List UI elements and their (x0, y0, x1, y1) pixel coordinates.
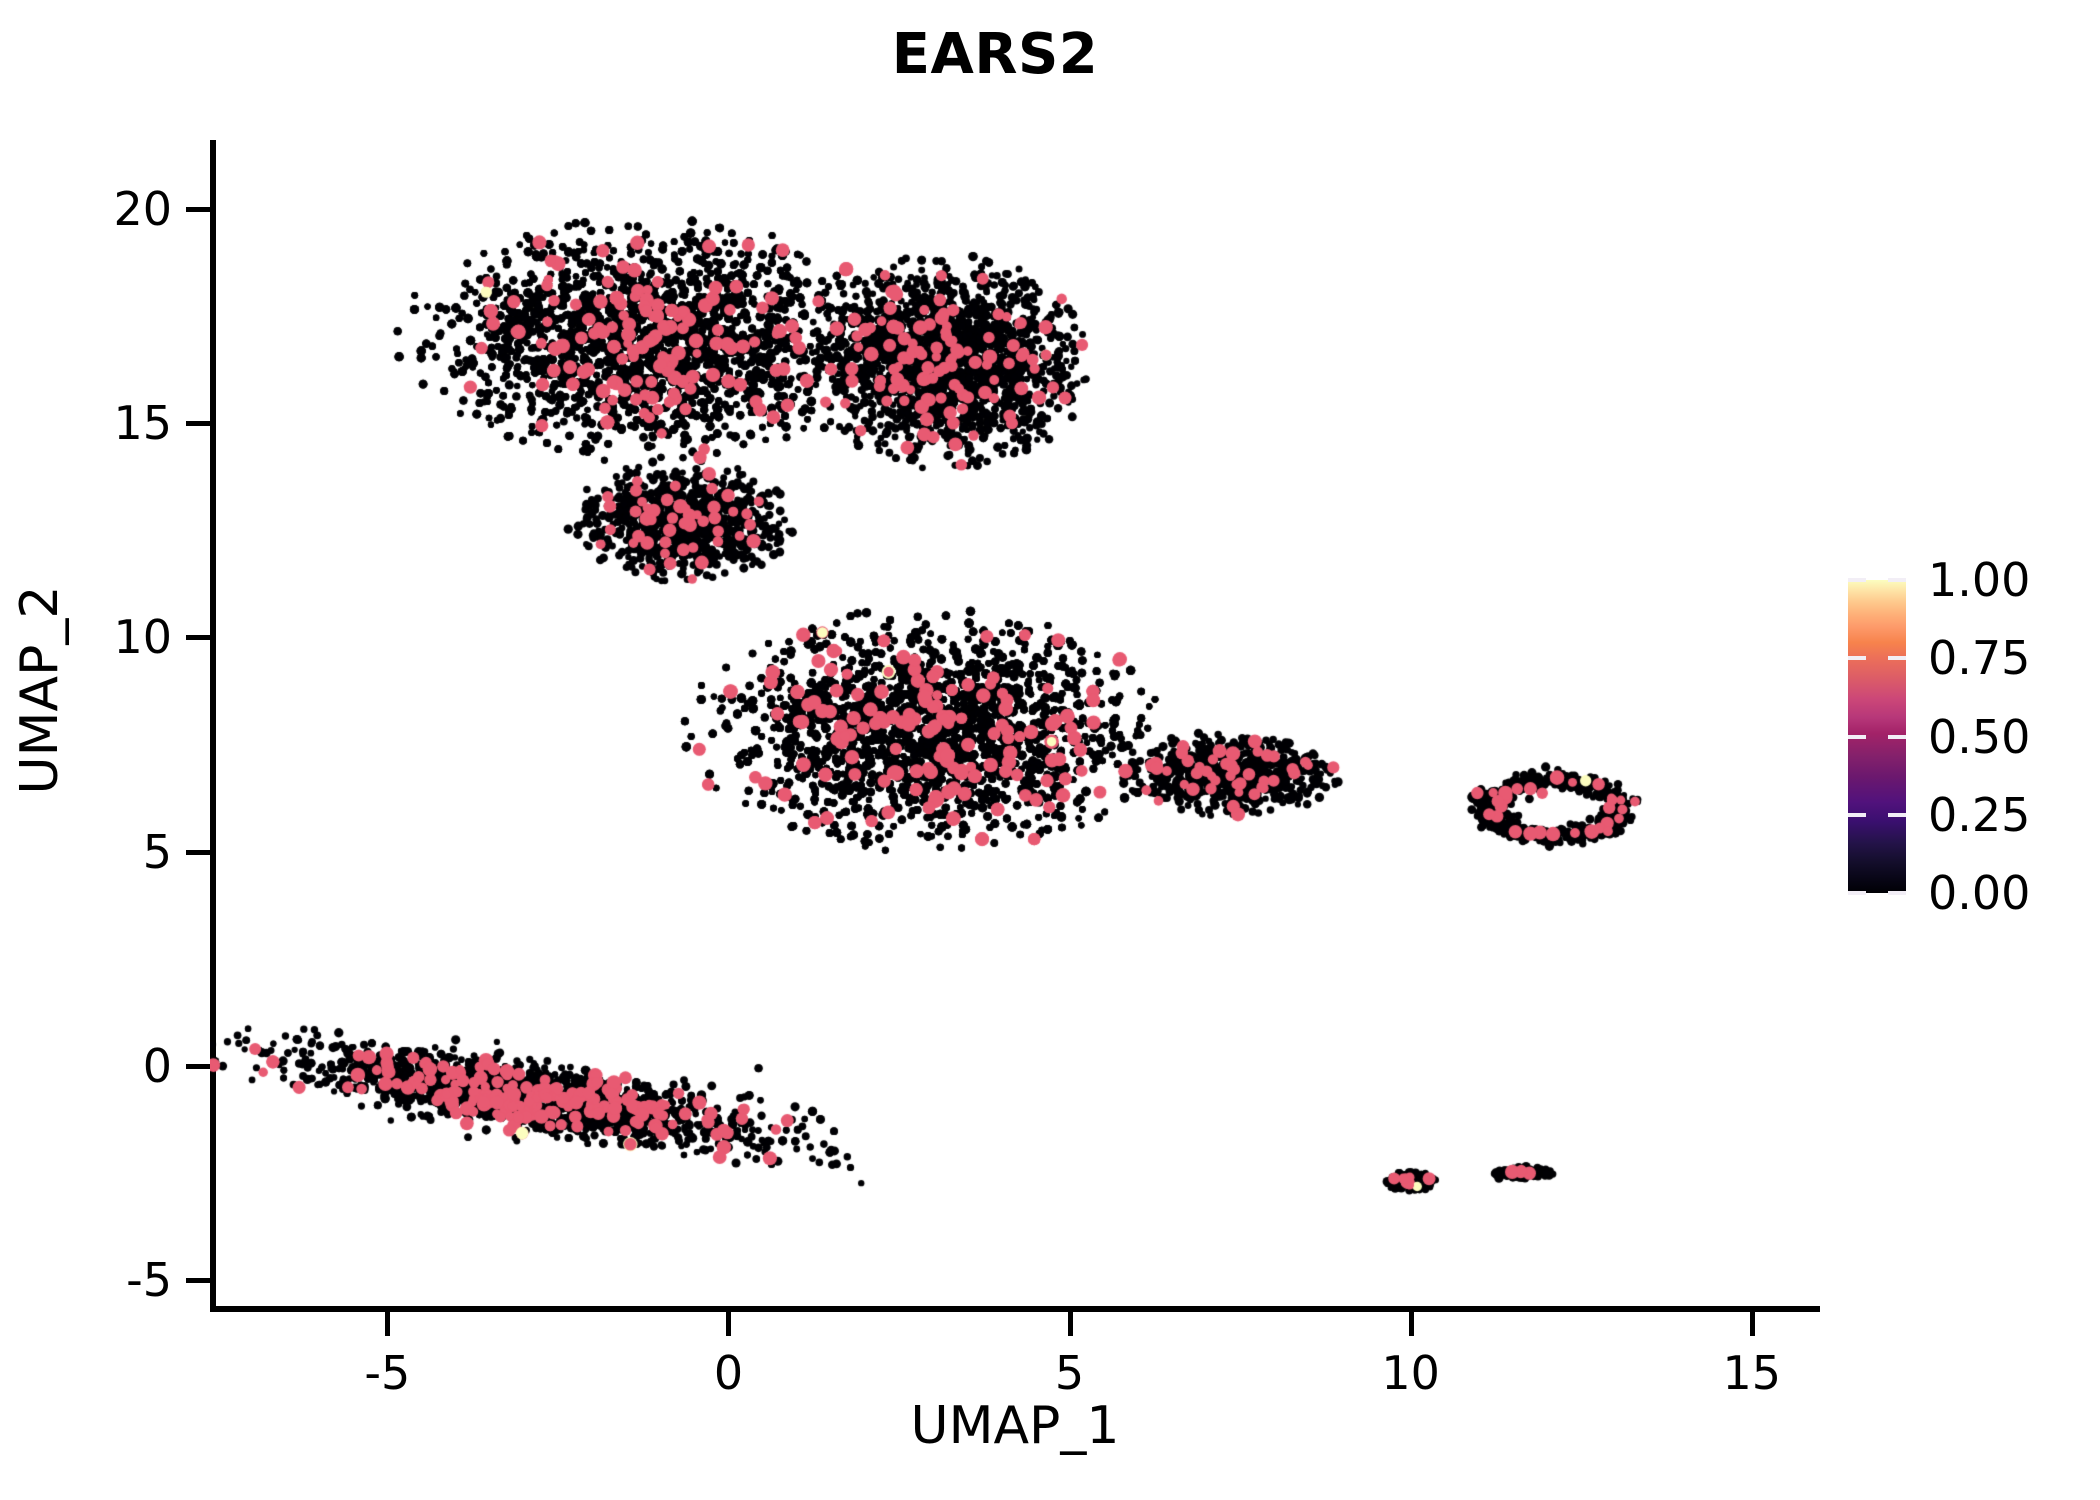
y-axis-label: UMAP_2 (10, 290, 70, 1090)
scatter-plot-area (210, 140, 1820, 1306)
x-axis-spine (210, 1306, 1820, 1312)
colorbar-tick-label: 0.75 (1928, 631, 2030, 685)
colorbar (1848, 580, 1906, 893)
y-tick-label: -5 (0, 1253, 172, 1307)
colorbar-tick-mark (1888, 891, 1906, 895)
umap-feature-plot: EARS2 -505101520 -5051015 UMAP_1 UMAP_2 … (0, 0, 2100, 1500)
x-tick-label: 15 (1722, 1346, 1781, 1400)
x-tick-label: -5 (364, 1346, 410, 1400)
scatter-points-canvas (210, 140, 1820, 1306)
colorbar-tick-label: 0.00 (1928, 866, 2030, 920)
x-axis-label: UMAP_1 (210, 1396, 1820, 1456)
colorbar-tick-mark (1848, 578, 1866, 582)
colorbar-tick-mark (1848, 891, 1866, 895)
x-tick-label: 0 (714, 1346, 743, 1400)
y-tick-mark (186, 850, 210, 855)
colorbar-tick-mark (1888, 813, 1906, 817)
x-tick-mark (1068, 1312, 1073, 1336)
page-title: EARS2 (0, 22, 1990, 87)
y-tick-mark (186, 207, 210, 212)
x-tick-label: 5 (1055, 1346, 1084, 1400)
y-tick-mark (186, 1278, 210, 1283)
y-tick-label: 20 (0, 182, 172, 236)
x-tick-mark (385, 1312, 390, 1336)
x-tick-mark (1750, 1312, 1755, 1336)
y-tick-mark (186, 421, 210, 426)
colorbar-tick-label: 0.25 (1928, 788, 2030, 842)
y-tick-mark (186, 1064, 210, 1069)
colorbar-tick-mark (1848, 735, 1866, 739)
colorbar-tick-mark (1888, 656, 1906, 660)
x-tick-mark (1409, 1312, 1414, 1336)
y-tick-mark (186, 635, 210, 640)
colorbar-tick-mark (1848, 813, 1866, 817)
colorbar-tick-mark (1888, 578, 1906, 582)
colorbar-tick-label: 0.50 (1928, 710, 2030, 764)
colorbar-tick-mark (1888, 735, 1906, 739)
x-tick-label: 10 (1381, 1346, 1440, 1400)
colorbar-tick-mark (1848, 656, 1866, 660)
x-tick-mark (726, 1312, 731, 1336)
colorbar-tick-label: 1.00 (1928, 553, 2030, 607)
